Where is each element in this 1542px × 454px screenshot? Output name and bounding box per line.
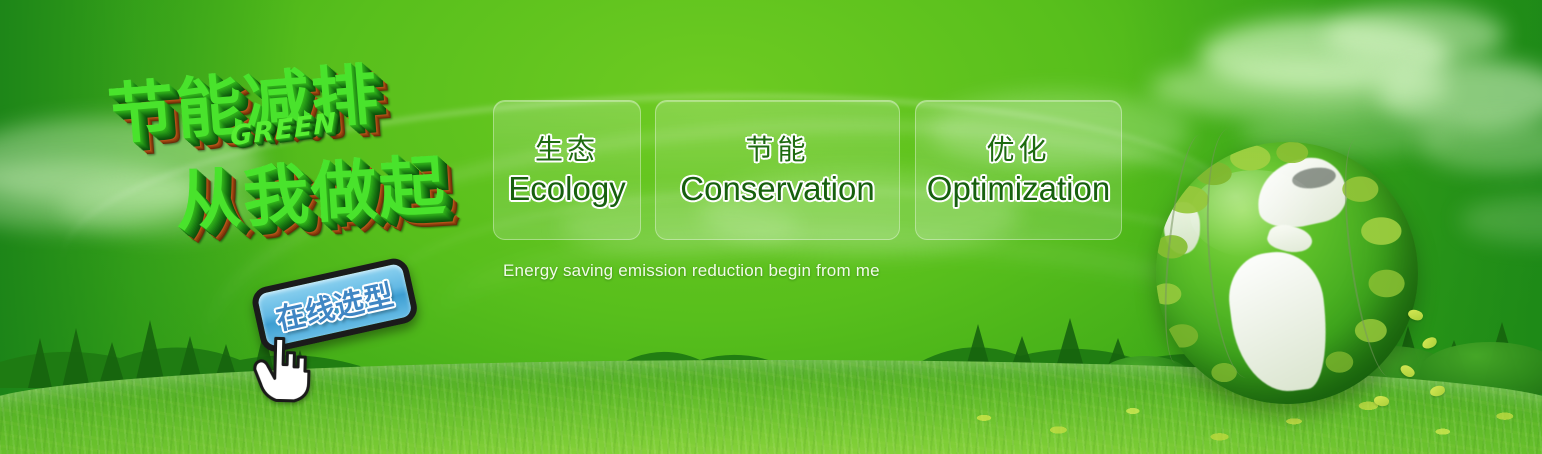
feature-card-ecology[interactable]: 生态 Ecology (493, 100, 641, 240)
falling-leaf (1421, 336, 1438, 350)
feature-card-en-label: Conservation (680, 172, 874, 205)
banner-tagline: Energy saving emission reduction begin f… (503, 261, 880, 281)
feature-card-cn-label: 节能 (745, 136, 809, 164)
falling-leaf (1399, 362, 1417, 379)
leafy-earth-globe (1138, 128, 1438, 428)
feature-card-en-label: Ecology (508, 172, 625, 205)
feature-card-en-label: Optimization (927, 172, 1110, 205)
falling-leaf (1407, 307, 1425, 322)
falling-leaf (1373, 394, 1390, 408)
logo-line-2: 从我做起 (172, 132, 449, 244)
hand-pointer-icon (252, 330, 316, 406)
feature-card-optimization[interactable]: 优化 Optimization (915, 100, 1122, 240)
headline-logo: 节能减排 GREEN 从我做起 (96, 28, 483, 286)
online-selection-button-label: 在线选型 (272, 272, 398, 339)
feature-card-cn-label: 优化 (986, 136, 1050, 164)
feature-card-conservation[interactable]: 节能 Conservation (655, 100, 900, 240)
feature-card-cn-label: 生态 (535, 136, 599, 164)
hero-banner: 节能减排 GREEN 从我做起 在线选型 生态 Ecology 节能 Conse… (0, 0, 1542, 454)
